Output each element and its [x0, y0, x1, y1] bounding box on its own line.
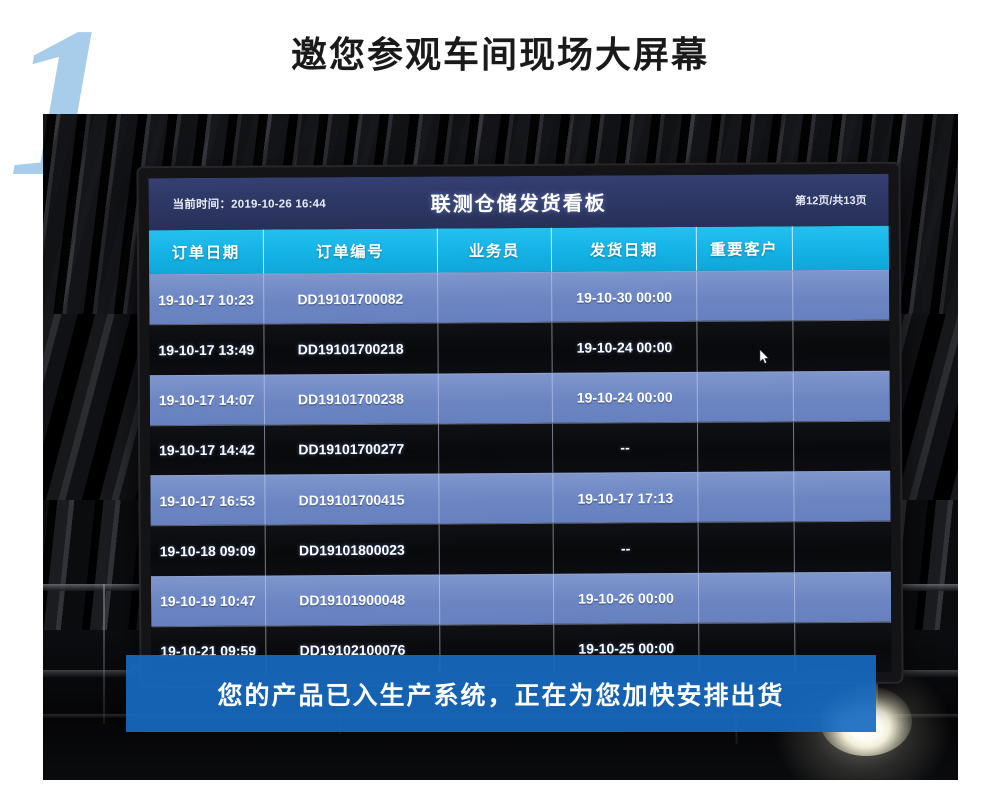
cell-extra — [793, 321, 889, 371]
cell-order-date: 19-10-18 09:09 — [151, 526, 266, 576]
cell-extra — [793, 371, 889, 421]
cell-key-customer — [698, 422, 794, 472]
cell-order-date: 19-10-17 13:49 — [149, 325, 264, 375]
cell-order-no: DD19101700082 — [264, 274, 438, 324]
cell-key-customer — [698, 573, 794, 623]
cell-ship-date: 19-10-26 00:00 — [554, 573, 699, 623]
column-header-salesman: 业务员 — [437, 228, 552, 273]
table-row: 19-10-17 10:23 DD19101700082 19-10-30 00… — [149, 270, 889, 325]
cell-order-no: DD19101700218 — [264, 324, 438, 374]
cell-salesman — [439, 524, 554, 574]
cell-extra — [794, 522, 890, 572]
cell-salesman — [438, 373, 553, 423]
cell-ship-date: 19-10-30 00:00 — [552, 272, 697, 322]
column-header-order-date: 订单日期 — [149, 230, 264, 275]
cell-order-date: 19-10-17 16:53 — [150, 476, 265, 526]
cell-order-no: DD19101700277 — [265, 424, 439, 474]
cell-order-date: 19-10-19 10:47 — [151, 576, 266, 626]
cell-extra — [794, 421, 890, 471]
cell-ship-date: -- — [553, 423, 698, 473]
table-row: 19-10-17 13:49 DD19101700218 19-10-24 00… — [149, 320, 889, 375]
table-header-row: 订单日期 订单编号 业务员 发货日期 重要客户 — [149, 226, 889, 275]
cell-key-customer — [697, 271, 793, 321]
caption-banner-text: 您的产品已入生产系统，正在为您加快安排出货 — [217, 676, 784, 712]
table-row: 19-10-18 09:09 DD19101800023 -- — [151, 521, 891, 576]
hanging-wire-1 — [103, 584, 105, 724]
dashboard-title: 联测仓储发货看板 — [149, 185, 889, 219]
column-header-ship-date: 发货日期 — [552, 227, 697, 272]
table-row: 19-10-19 10:47 DD19101900048 19-10-26 00… — [151, 571, 891, 626]
cell-ship-date: -- — [554, 523, 699, 573]
cell-order-no: DD19101700415 — [265, 474, 439, 524]
cell-ship-date: 19-10-17 17:13 — [554, 473, 699, 523]
cell-ship-date: 19-10-24 00:00 — [553, 322, 698, 372]
cell-extra — [793, 271, 889, 321]
column-header-blank — [793, 226, 889, 271]
column-header-key-customer: 重要客户 — [696, 226, 792, 271]
cell-order-date: 19-10-17 14:07 — [150, 375, 265, 425]
cell-ship-date: 19-10-24 00:00 — [553, 372, 698, 422]
table-row: 19-10-17 16:53 DD19101700415 19-10-17 17… — [150, 471, 890, 526]
page-title: 邀您参观车间现场大屏幕 — [0, 26, 1000, 78]
cell-order-date: 19-10-17 10:23 — [149, 275, 264, 325]
caption-banner: 您的产品已入生产系统，正在为您加快安排出货 — [126, 655, 876, 732]
cell-extra — [795, 572, 891, 622]
cell-salesman — [438, 273, 553, 323]
shipment-table: 订单日期 订单编号 业务员 发货日期 重要客户 19-10-17 10:23 D… — [149, 226, 892, 677]
table-row: 19-10-17 14:42 DD19101700277 -- — [150, 420, 890, 475]
cell-order-date: 19-10-17 14:42 — [150, 425, 265, 475]
cell-key-customer — [698, 472, 794, 522]
table-row: 19-10-17 14:07 DD19101700238 19-10-24 00… — [150, 370, 890, 425]
cell-salesman — [438, 323, 553, 373]
dashboard-screen: 当前时间：2019-10-26 16:44 联测仓储发货看板 第12页/共13页… — [148, 174, 891, 677]
cell-extra — [794, 472, 890, 522]
cell-order-no: DD19101900048 — [266, 575, 440, 625]
cell-order-no: DD19101800023 — [265, 525, 439, 575]
wall-mounted-tv: 当前时间：2019-10-26 16:44 联测仓储发货看板 第12页/共13页… — [138, 164, 901, 687]
cell-key-customer — [698, 523, 794, 573]
cell-salesman — [439, 474, 554, 524]
mouse-cursor-icon — [758, 349, 770, 364]
cell-salesman — [439, 424, 554, 474]
cell-key-customer — [697, 322, 793, 372]
cell-salesman — [439, 574, 554, 624]
column-header-order-no: 订单编号 — [263, 229, 437, 274]
page-indicator: 第12页/共13页 — [795, 192, 867, 208]
cell-key-customer — [697, 372, 793, 422]
dashboard-header: 当前时间：2019-10-26 16:44 联测仓储发货看板 第12页/共13页 — [148, 174, 888, 231]
cell-order-no: DD19101700238 — [264, 374, 438, 424]
